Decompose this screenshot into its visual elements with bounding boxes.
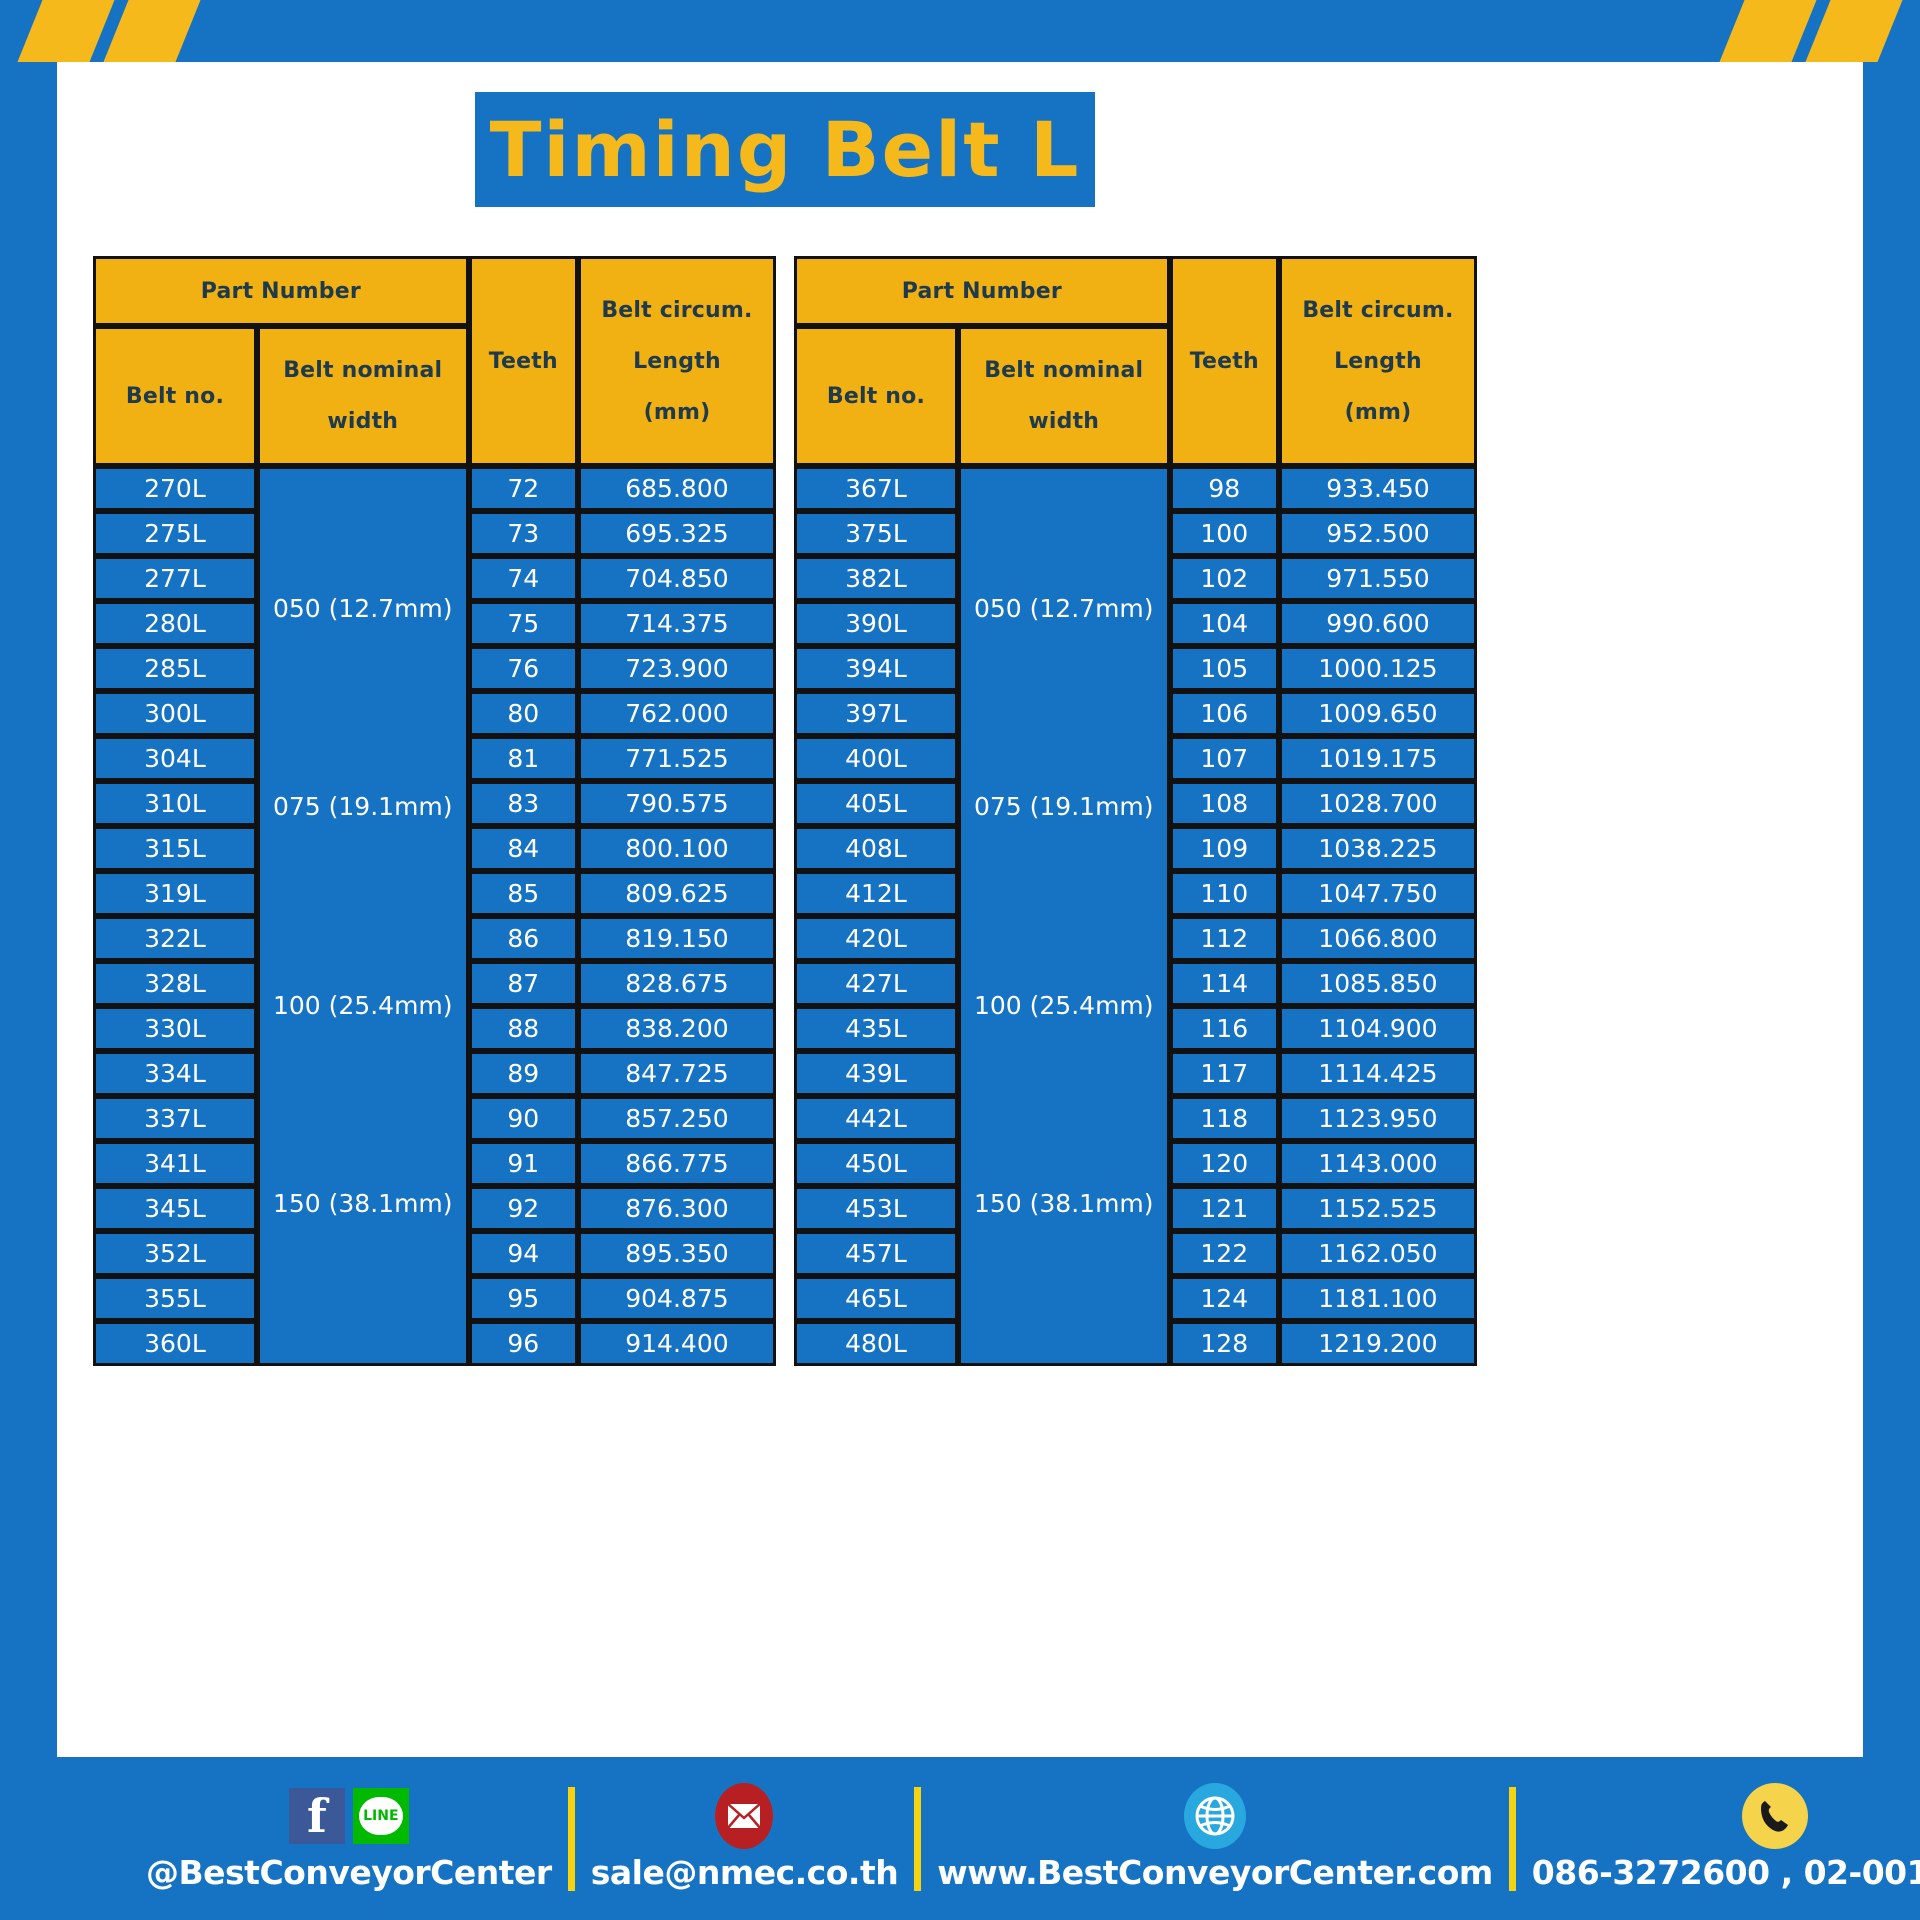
cell-belt-no: 453L: [794, 1186, 958, 1231]
cell-length: 771.525: [578, 736, 776, 781]
footer-email[interactable]: sale@nmec.co.th: [591, 1785, 899, 1892]
footer-social-label: @BestConveyorCenter: [146, 1853, 552, 1892]
right-table-wrapper: Part Number Teeth Belt circum. Length (m…: [794, 256, 1477, 1366]
cell-length: 1066.800: [1279, 916, 1477, 961]
cell-length: 828.675: [578, 961, 776, 1006]
header-teeth: Teeth: [1170, 256, 1279, 466]
stripe-decoration: [103, 0, 200, 62]
cell-teeth: 76: [469, 646, 578, 691]
cell-teeth: 88: [469, 1006, 578, 1051]
width-option: 050 (12.7mm): [961, 595, 1167, 623]
cell-teeth: 121: [1170, 1186, 1279, 1231]
cell-teeth: 106: [1170, 691, 1279, 736]
header-belt-no: Belt no.: [93, 326, 257, 466]
header-belt-circum: Belt circum. Length (mm): [578, 256, 776, 466]
cell-teeth: 122: [1170, 1231, 1279, 1276]
cell-teeth: 91: [469, 1141, 578, 1186]
cell-length: 695.325: [578, 511, 776, 556]
belt-table-right: Part Number Teeth Belt circum. Length (m…: [794, 256, 1477, 1366]
corner-stripes-right: [1732, 0, 1890, 62]
cell-teeth: 94: [469, 1231, 578, 1276]
cell-teeth: 128: [1170, 1321, 1279, 1366]
email-icon[interactable]: [715, 1783, 773, 1849]
cell-teeth: 100: [1170, 511, 1279, 556]
cell-belt-no: 465L: [794, 1276, 958, 1321]
header-belt-circum-line1: Belt circum.: [601, 298, 752, 323]
phone-icon[interactable]: [1742, 1783, 1808, 1849]
cell-length: 723.900: [578, 646, 776, 691]
belt-table-left: Part Number Teeth Belt circum. Length (m…: [93, 256, 776, 1366]
cell-length: 1114.425: [1279, 1051, 1477, 1096]
cell-teeth: 105: [1170, 646, 1279, 691]
line-icon[interactable]: LINE: [353, 1788, 409, 1844]
cell-length: 847.725: [578, 1051, 776, 1096]
cell-length: 1028.700: [1279, 781, 1477, 826]
cell-teeth: 95: [469, 1276, 578, 1321]
stripe-decoration: [1719, 0, 1816, 62]
facebook-icon[interactable]: f: [289, 1788, 345, 1844]
cell-length: 1009.650: [1279, 691, 1477, 736]
cell-belt-no: 355L: [93, 1276, 257, 1321]
width-option: 075 (19.1mm): [260, 793, 466, 821]
cell-length: 895.350: [578, 1231, 776, 1276]
cell-belt-no: 310L: [93, 781, 257, 826]
cell-teeth: 116: [1170, 1006, 1279, 1051]
cell-teeth: 110: [1170, 871, 1279, 916]
cell-length: 1085.850: [1279, 961, 1477, 1006]
cell-belt-no: 341L: [93, 1141, 257, 1186]
stripe-decoration: [17, 0, 114, 62]
footer-phone-label: 086-3272600 , 02-0017766: [1532, 1853, 1920, 1892]
cell-belt-no: 277L: [93, 556, 257, 601]
cell-length: 790.575: [578, 781, 776, 826]
cell-length: 800.100: [578, 826, 776, 871]
footer-contact-bar: f LINE @BestConveyorCenter sale@nmec.co.…: [0, 1757, 1920, 1920]
footer-phone[interactable]: 086-3272600 , 02-0017766: [1532, 1785, 1920, 1892]
cell-length: 1123.950: [1279, 1096, 1477, 1141]
cell-belt-no: 435L: [794, 1006, 958, 1051]
header-belt-no: Belt no.: [794, 326, 958, 466]
cell-length: 876.300: [578, 1186, 776, 1231]
cell-belt-no: 322L: [93, 916, 257, 961]
cell-belt-no: 319L: [93, 871, 257, 916]
cell-belt-no: 412L: [794, 871, 958, 916]
cell-length: 1152.525: [1279, 1186, 1477, 1231]
cell-belt-no: 420L: [794, 916, 958, 961]
header-belt-nominal: Belt nominal: [283, 358, 442, 383]
cell-belt-no: 408L: [794, 826, 958, 871]
cell-belt-no: 328L: [93, 961, 257, 1006]
cell-teeth: 75: [469, 601, 578, 646]
cell-belt-no: 270L: [93, 466, 257, 511]
width-option: 150 (38.1mm): [260, 1190, 466, 1218]
table-header-row-top: Part Number Teeth Belt circum. Length (m…: [794, 256, 1477, 326]
cell-teeth: 109: [1170, 826, 1279, 871]
cell-belt-no: 457L: [794, 1231, 958, 1276]
table-row: 367L050 (12.7mm)075 (19.1mm)100 (25.4mm)…: [794, 466, 1477, 511]
cell-teeth: 83: [469, 781, 578, 826]
cell-length: 685.800: [578, 466, 776, 511]
table-header-row-top: Part Number Teeth Belt circum. Length (m…: [93, 256, 776, 326]
cell-length: 857.250: [578, 1096, 776, 1141]
header-belt-nominal-width: Belt nominal width: [257, 326, 469, 466]
cell-teeth: 80: [469, 691, 578, 736]
page-title: Timing Belt L: [490, 105, 1081, 194]
cell-belt-no: 304L: [93, 736, 257, 781]
header-belt-nominal: Belt nominal: [984, 358, 1143, 383]
cell-teeth: 74: [469, 556, 578, 601]
cell-teeth: 104: [1170, 601, 1279, 646]
header-teeth: Teeth: [469, 256, 578, 466]
header-belt-circum-line2: Length: [1282, 349, 1474, 374]
cell-belt-no: 315L: [93, 826, 257, 871]
cell-length: 704.850: [578, 556, 776, 601]
cell-teeth: 107: [1170, 736, 1279, 781]
cell-belt-nominal-width: 050 (12.7mm)075 (19.1mm)100 (25.4mm)150 …: [958, 466, 1170, 1366]
cell-length: 819.150: [578, 916, 776, 961]
cell-length: 904.875: [578, 1276, 776, 1321]
content-card: Timing Belt L Part Number Teeth Belt cir…: [57, 62, 1863, 1757]
width-option: 150 (38.1mm): [961, 1190, 1167, 1218]
footer-social[interactable]: f LINE @BestConveyorCenter: [146, 1785, 552, 1892]
cell-length: 971.550: [1279, 556, 1477, 601]
cell-length: 762.000: [578, 691, 776, 736]
cell-teeth: 84: [469, 826, 578, 871]
cell-belt-no: 280L: [93, 601, 257, 646]
header-belt-circum-line2: Length: [581, 349, 773, 374]
cell-belt-no: 442L: [794, 1096, 958, 1141]
cell-belt-no: 390L: [794, 601, 958, 646]
cell-teeth: 72: [469, 466, 578, 511]
cell-length: 1143.000: [1279, 1141, 1477, 1186]
cell-belt-no: 400L: [794, 736, 958, 781]
cell-length: 933.450: [1279, 466, 1477, 511]
globe-icon[interactable]: [1184, 1783, 1246, 1849]
header-belt-circum-line3: (mm): [1282, 400, 1474, 425]
cell-teeth: 92: [469, 1186, 578, 1231]
left-table-body: 270L050 (12.7mm)075 (19.1mm)100 (25.4mm)…: [93, 466, 776, 1366]
left-table-wrapper: Part Number Teeth Belt circum. Length (m…: [93, 256, 776, 1366]
footer-divider: [914, 1787, 921, 1891]
cell-length: 1181.100: [1279, 1276, 1477, 1321]
cell-teeth: 81: [469, 736, 578, 781]
cell-teeth: 85: [469, 871, 578, 916]
cell-length: 1219.200: [1279, 1321, 1477, 1366]
header-belt-circum: Belt circum. Length (mm): [1279, 256, 1477, 466]
cell-belt-no: 375L: [794, 511, 958, 556]
corner-stripes-left: [30, 0, 188, 62]
cell-teeth: 120: [1170, 1141, 1279, 1186]
cell-belt-no: 334L: [93, 1051, 257, 1096]
header-belt-circum-line3: (mm): [581, 400, 773, 425]
envelope-icon: [726, 1802, 762, 1830]
cell-belt-no: 275L: [93, 511, 257, 556]
cell-length: 1038.225: [1279, 826, 1477, 871]
table-row: 270L050 (12.7mm)075 (19.1mm)100 (25.4mm)…: [93, 466, 776, 511]
cell-length: 1162.050: [1279, 1231, 1477, 1276]
belt-tables: Part Number Teeth Belt circum. Length (m…: [93, 256, 1831, 1366]
right-table-body: 367L050 (12.7mm)075 (19.1mm)100 (25.4mm)…: [794, 466, 1477, 1366]
cell-teeth: 73: [469, 511, 578, 556]
cell-belt-no: 480L: [794, 1321, 958, 1366]
cell-belt-no: 300L: [93, 691, 257, 736]
header-part-number: Part Number: [93, 256, 469, 326]
cell-belt-no: 285L: [93, 646, 257, 691]
cell-belt-no: 405L: [794, 781, 958, 826]
line-badge: LINE: [359, 1797, 403, 1835]
cell-belt-no: 382L: [794, 556, 958, 601]
width-option: 100 (25.4mm): [260, 992, 466, 1020]
cell-belt-no: 367L: [794, 466, 958, 511]
footer-email-label: sale@nmec.co.th: [591, 1853, 899, 1892]
cell-belt-no: 345L: [93, 1186, 257, 1231]
cell-belt-no: 450L: [794, 1141, 958, 1186]
header-belt-circum-line1: Belt circum.: [1302, 298, 1453, 323]
cell-length: 809.625: [578, 871, 776, 916]
cell-teeth: 89: [469, 1051, 578, 1096]
header-width: width: [260, 409, 466, 434]
cell-teeth: 90: [469, 1096, 578, 1141]
cell-length: 1104.900: [1279, 1006, 1477, 1051]
footer-website-label: www.BestConveyorCenter.com: [937, 1853, 1493, 1892]
cell-teeth: 98: [1170, 466, 1279, 511]
cell-belt-no: 330L: [93, 1006, 257, 1051]
header-belt-nominal-width: Belt nominal width: [958, 326, 1170, 466]
cell-length: 866.775: [578, 1141, 776, 1186]
cell-belt-nominal-width: 050 (12.7mm)075 (19.1mm)100 (25.4mm)150 …: [257, 466, 469, 1366]
cell-teeth: 86: [469, 916, 578, 961]
cell-belt-no: 397L: [794, 691, 958, 736]
width-option: 100 (25.4mm): [961, 992, 1167, 1020]
header-width: width: [961, 409, 1167, 434]
cell-belt-no: 352L: [93, 1231, 257, 1276]
cell-length: 990.600: [1279, 601, 1477, 646]
globe-glyph: [1193, 1794, 1237, 1838]
cell-length: 714.375: [578, 601, 776, 646]
cell-teeth: 87: [469, 961, 578, 1006]
stripe-decoration: [1805, 0, 1902, 62]
cell-teeth: 114: [1170, 961, 1279, 1006]
cell-belt-no: 439L: [794, 1051, 958, 1096]
cell-teeth: 118: [1170, 1096, 1279, 1141]
cell-teeth: 124: [1170, 1276, 1279, 1321]
cell-length: 1000.125: [1279, 646, 1477, 691]
header-part-number: Part Number: [794, 256, 1170, 326]
footer-website[interactable]: www.BestConveyorCenter.com: [937, 1785, 1493, 1892]
cell-teeth: 108: [1170, 781, 1279, 826]
width-option: 075 (19.1mm): [961, 793, 1167, 821]
cell-teeth: 96: [469, 1321, 578, 1366]
cell-length: 1019.175: [1279, 736, 1477, 781]
cell-belt-no: 427L: [794, 961, 958, 1006]
cell-teeth: 117: [1170, 1051, 1279, 1096]
footer-divider: [568, 1787, 575, 1891]
cell-length: 952.500: [1279, 511, 1477, 556]
cell-length: 838.200: [578, 1006, 776, 1051]
footer-divider: [1509, 1787, 1516, 1891]
cell-belt-no: 337L: [93, 1096, 257, 1141]
cell-length: 1047.750: [1279, 871, 1477, 916]
cell-belt-no: 394L: [794, 646, 958, 691]
cell-teeth: 112: [1170, 916, 1279, 961]
page-title-band: Timing Belt L: [475, 92, 1095, 207]
width-option: 050 (12.7mm): [260, 595, 466, 623]
phone-glyph: [1756, 1797, 1794, 1835]
cell-length: 914.400: [578, 1321, 776, 1366]
cell-teeth: 102: [1170, 556, 1279, 601]
cell-belt-no: 360L: [93, 1321, 257, 1366]
